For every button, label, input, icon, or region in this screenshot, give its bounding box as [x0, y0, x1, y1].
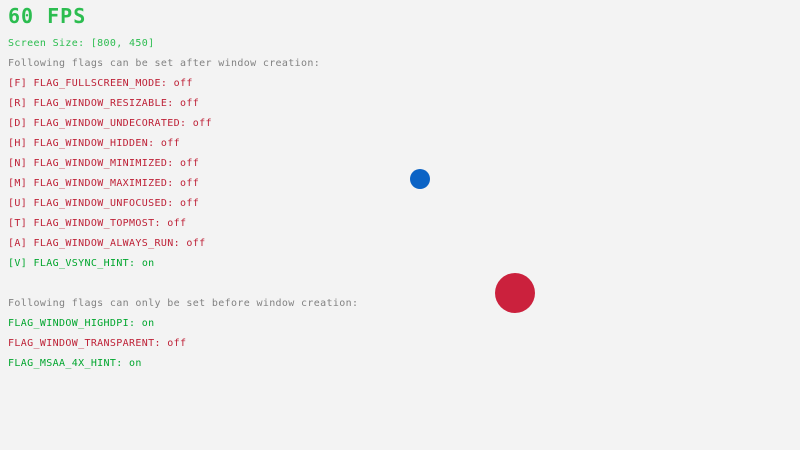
flag-name: FLAG_WINDOW_MINIMIZED:: [34, 158, 174, 169]
flag-row[interactable]: FLAG_WINDOW_HIGHDPI: on: [8, 318, 155, 330]
section-heading-before-creation: Following flags can only be set before w…: [8, 298, 358, 310]
flag-value: off: [186, 238, 205, 249]
flag-row[interactable]: [H] FLAG_WINDOW_HIDDEN: off: [8, 138, 180, 150]
flag-value: off: [174, 78, 193, 89]
flag-shortcut-key: [U]: [8, 198, 27, 209]
flag-value: off: [167, 218, 186, 229]
flag-shortcut-key: [T]: [8, 218, 27, 229]
large-red-ball: [495, 273, 535, 313]
flag-value: off: [180, 198, 199, 209]
canvas-stage: 60 FPS Screen Size: [800, 450] Following…: [0, 0, 800, 450]
small-blue-ball: [410, 169, 430, 189]
flag-shortcut-key: [M]: [8, 178, 27, 189]
flag-value: on: [142, 258, 155, 269]
flag-name: FLAG_VSYNC_HINT:: [34, 258, 136, 269]
flag-shortcut-key: [N]: [8, 158, 27, 169]
flag-row[interactable]: FLAG_WINDOW_TRANSPARENT: off: [8, 338, 186, 350]
flag-row[interactable]: [F] FLAG_FULLSCREEN_MODE: off: [8, 78, 193, 90]
flag-row[interactable]: [V] FLAG_VSYNC_HINT: on: [8, 258, 155, 270]
flag-name: FLAG_MSAA_4X_HINT:: [8, 358, 123, 369]
flag-row[interactable]: [A] FLAG_WINDOW_ALWAYS_RUN: off: [8, 238, 206, 250]
flag-shortcut-key: [V]: [8, 258, 27, 269]
flag-value: off: [180, 98, 199, 109]
flag-shortcut-key: [H]: [8, 138, 27, 149]
flag-name: FLAG_WINDOW_RESIZABLE:: [34, 98, 174, 109]
flag-row[interactable]: FLAG_MSAA_4X_HINT: on: [8, 358, 142, 370]
flag-name: FLAG_FULLSCREEN_MODE:: [34, 78, 168, 89]
flag-name: FLAG_WINDOW_HIGHDPI:: [8, 318, 135, 329]
flag-value: on: [142, 318, 155, 329]
flag-row[interactable]: [N] FLAG_WINDOW_MINIMIZED: off: [8, 158, 199, 170]
flag-name: FLAG_WINDOW_MAXIMIZED:: [34, 178, 174, 189]
flag-row[interactable]: [T] FLAG_WINDOW_TOPMOST: off: [8, 218, 186, 230]
flag-name: FLAG_WINDOW_ALWAYS_RUN:: [34, 238, 181, 249]
flag-value: off: [167, 338, 186, 349]
flag-name: FLAG_WINDOW_HIDDEN:: [34, 138, 155, 149]
flag-shortcut-key: [R]: [8, 98, 27, 109]
flag-row[interactable]: [M] FLAG_WINDOW_MAXIMIZED: off: [8, 178, 199, 190]
section-heading-after-creation: Following flags can be set after window …: [8, 58, 320, 70]
flag-row[interactable]: [R] FLAG_WINDOW_RESIZABLE: off: [8, 98, 199, 110]
flag-value: off: [180, 158, 199, 169]
fps-counter: 60 FPS: [8, 5, 86, 27]
flag-name: FLAG_WINDOW_UNDECORATED:: [34, 118, 187, 129]
flag-value: off: [193, 118, 212, 129]
flag-name: FLAG_WINDOW_TRANSPARENT:: [8, 338, 161, 349]
flag-shortcut-key: [F]: [8, 78, 27, 89]
flag-shortcut-key: [A]: [8, 238, 27, 249]
flag-row[interactable]: [U] FLAG_WINDOW_UNFOCUSED: off: [8, 198, 199, 210]
flag-row[interactable]: [D] FLAG_WINDOW_UNDECORATED: off: [8, 118, 212, 130]
screen-size-label: Screen Size: [800, 450]: [8, 38, 155, 50]
flag-value: off: [161, 138, 180, 149]
flag-name: FLAG_WINDOW_TOPMOST:: [34, 218, 161, 229]
flag-value: off: [180, 178, 199, 189]
flag-value: on: [129, 358, 142, 369]
flag-name: FLAG_WINDOW_UNFOCUSED:: [34, 198, 174, 209]
flag-shortcut-key: [D]: [8, 118, 27, 129]
